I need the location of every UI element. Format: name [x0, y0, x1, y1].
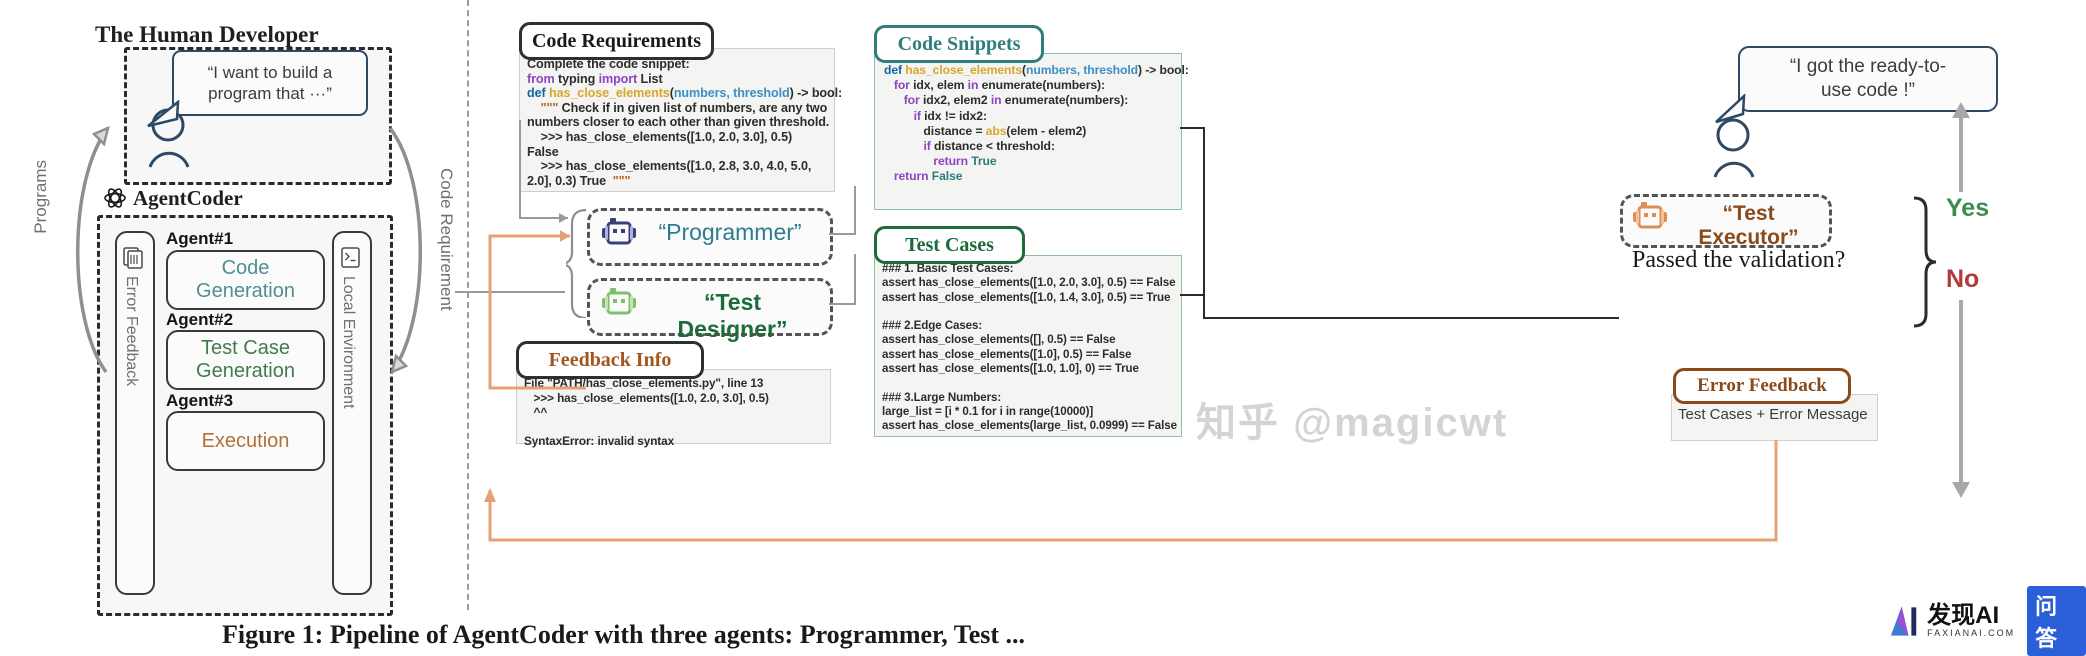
code-token: distance < threshold: [931, 139, 1055, 153]
code-snippets-code: def has_close_elements(numbers, threshol… [884, 63, 1176, 185]
robot-icon-blue [601, 216, 639, 252]
error-feedback-tag: Error Feedback [1673, 368, 1851, 404]
code-line [882, 376, 1178, 390]
programs-label: Programs [31, 160, 51, 234]
code-token: numbers, threshold [1026, 63, 1138, 77]
code-requirement-arrow [374, 110, 444, 390]
code-token: for [894, 78, 910, 92]
faxianai-qa-badge: 问答 [2027, 586, 2086, 656]
code-line: if distance < threshold: [884, 139, 1176, 154]
code-line: ### 3.Large Numbers: [882, 391, 1178, 405]
code-token: def [884, 63, 902, 77]
code-line: ### 1. Basic Test Cases: [882, 262, 1178, 276]
code-token [884, 169, 894, 183]
code-token: numbers, threshold [674, 86, 790, 100]
developer-avatar-icon [1705, 115, 1775, 185]
code-line: assert has_close_elements([1.0, 2.0, 3.0… [882, 276, 1178, 290]
code-line: ^^ [524, 405, 824, 420]
code-token: idx, elem [910, 78, 968, 92]
code-token: in [991, 93, 1002, 107]
human-speech-tail [146, 100, 180, 128]
code-token: enumerate(numbers): [978, 78, 1105, 92]
code-token: ) -> bool: [790, 86, 843, 100]
code-line: return False [884, 169, 1176, 184]
code-token [884, 154, 933, 168]
code-token: abs [986, 124, 1007, 138]
code-token: from [527, 72, 555, 86]
code-token: """ [613, 174, 631, 188]
code-token [884, 93, 904, 107]
code-line: if idx != idx2: [884, 109, 1176, 124]
code-token: idx2, elem2 [920, 93, 991, 107]
code-line: assert has_close_elements([1.0, 1.0], 0)… [882, 362, 1178, 376]
figure-caption: Figure 1: Pipeline of AgentCoder with th… [222, 620, 1025, 650]
robot-icon-green [601, 286, 639, 322]
code-token: distance = [884, 124, 986, 138]
feedback-info-tag: Feedback Info [516, 341, 704, 379]
code-token: (elem - elem2) [1006, 124, 1086, 138]
faxianai-logo-icon [1888, 603, 1921, 639]
yes-label: Yes [1946, 194, 1989, 223]
code-line: large_list = [i * 0.1 for i in range(100… [882, 405, 1178, 419]
zhihu-watermark: 知乎 @magicwt [1196, 390, 1508, 448]
human-speech-bubble: “I want to build a program that ···” [172, 50, 368, 116]
human-developer-title: The Human Developer [95, 22, 319, 48]
code-token: for [904, 93, 920, 107]
code-token: has_close_elements [902, 63, 1022, 77]
faxianai-badge-domain: FAXIANAI.COM [1927, 628, 2015, 638]
validation-question: Passed the validation? [1632, 247, 1845, 274]
code-line: """ Check if in given list of numbers, a… [527, 101, 827, 116]
code-token: def [527, 86, 546, 100]
code-line: assert has_close_elements([], 0.5) == Fa… [882, 333, 1178, 347]
test-executor-label: “Test Executor” [1676, 202, 1821, 250]
agent-1-box[interactable]: Code Generation [166, 250, 325, 310]
agentcoder-title: AgentCoder [133, 186, 243, 211]
code-line: def has_close_elements(numbers, threshol… [527, 86, 827, 101]
code-line: distance = abs(elem - elem2) [884, 124, 1176, 139]
code-line [882, 305, 1178, 319]
code-token: if [923, 139, 930, 153]
code-token: True [971, 154, 996, 168]
agent-3-number: Agent#3 [166, 391, 233, 411]
code-token [527, 101, 541, 115]
code-line: from typing import List [527, 72, 827, 87]
error-feedback-body: Test Cases + Error Message [1678, 406, 1873, 423]
code-token: in [968, 78, 979, 92]
decision-bracket [1912, 196, 1938, 332]
faxianai-badge: 发现AI FAXIANAI.COM 问答 [1888, 586, 2086, 656]
code-token: List [637, 72, 662, 86]
code-line: for idx2, elem2 in enumerate(numbers): [884, 93, 1176, 108]
no-down-arrow [1950, 300, 1972, 500]
agent-2-box[interactable]: Test Case Generation [166, 330, 325, 390]
code-token: typing [555, 72, 599, 86]
code-token: return [933, 154, 968, 168]
code-token: idx != idx2: [921, 109, 987, 123]
code-token: has_close_elements [546, 86, 670, 100]
test-cases-code: ### 1. Basic Test Cases:assert has_close… [882, 262, 1178, 434]
code-line: def has_close_elements(numbers, threshol… [884, 63, 1176, 78]
test-designer-label: “Test Designer” [650, 289, 815, 343]
code-token: if [914, 109, 921, 123]
test-cases-tag: Test Cases [874, 226, 1025, 264]
programs-arrow [62, 110, 132, 390]
faxianai-badge-name: 发现AI [1927, 604, 2015, 628]
code-token [884, 139, 923, 153]
code-token: import [599, 72, 638, 86]
roles-to-outputs-connector [827, 120, 883, 320]
code-line: assert has_close_elements([1.0, 1.4, 3.0… [882, 291, 1178, 305]
code-token: return [894, 169, 929, 183]
code-token: enumerate(numbers): [1002, 93, 1129, 107]
code-token [884, 109, 914, 123]
robot-icon-orange [1632, 200, 1670, 236]
code-line: return True [884, 154, 1176, 169]
yes-up-arrow [1950, 100, 1972, 192]
code-requirements-tag: Code Requirements [519, 22, 714, 60]
agent-1-number: Agent#1 [166, 229, 233, 249]
code-line: for idx, elem in enumerate(numbers): [884, 78, 1176, 93]
code-token [884, 78, 894, 92]
code-token: """ [541, 101, 559, 115]
agent-2-number: Agent#2 [166, 310, 233, 330]
code-line: ### 2.Edge Cases: [882, 319, 1178, 333]
programmer-label: “Programmer” [650, 219, 810, 246]
code-token: False [932, 169, 963, 183]
code-token: ) -> bool: [1138, 63, 1189, 77]
code-line: assert has_close_elements([1.0], 0.5) ==… [882, 348, 1178, 362]
local-environment-label: Local Environment [339, 276, 357, 409]
outputs-to-executor-connector [1180, 120, 1625, 330]
error-feedback-return-arrow [480, 430, 1780, 610]
code-snippets-tag: Code Snippets [874, 25, 1044, 63]
agent-3-box[interactable]: Execution [166, 411, 325, 471]
terminal-icon [338, 245, 363, 270]
code-token: Check if in given list of numbers, are a… [558, 101, 827, 115]
no-label: No [1946, 265, 1979, 294]
